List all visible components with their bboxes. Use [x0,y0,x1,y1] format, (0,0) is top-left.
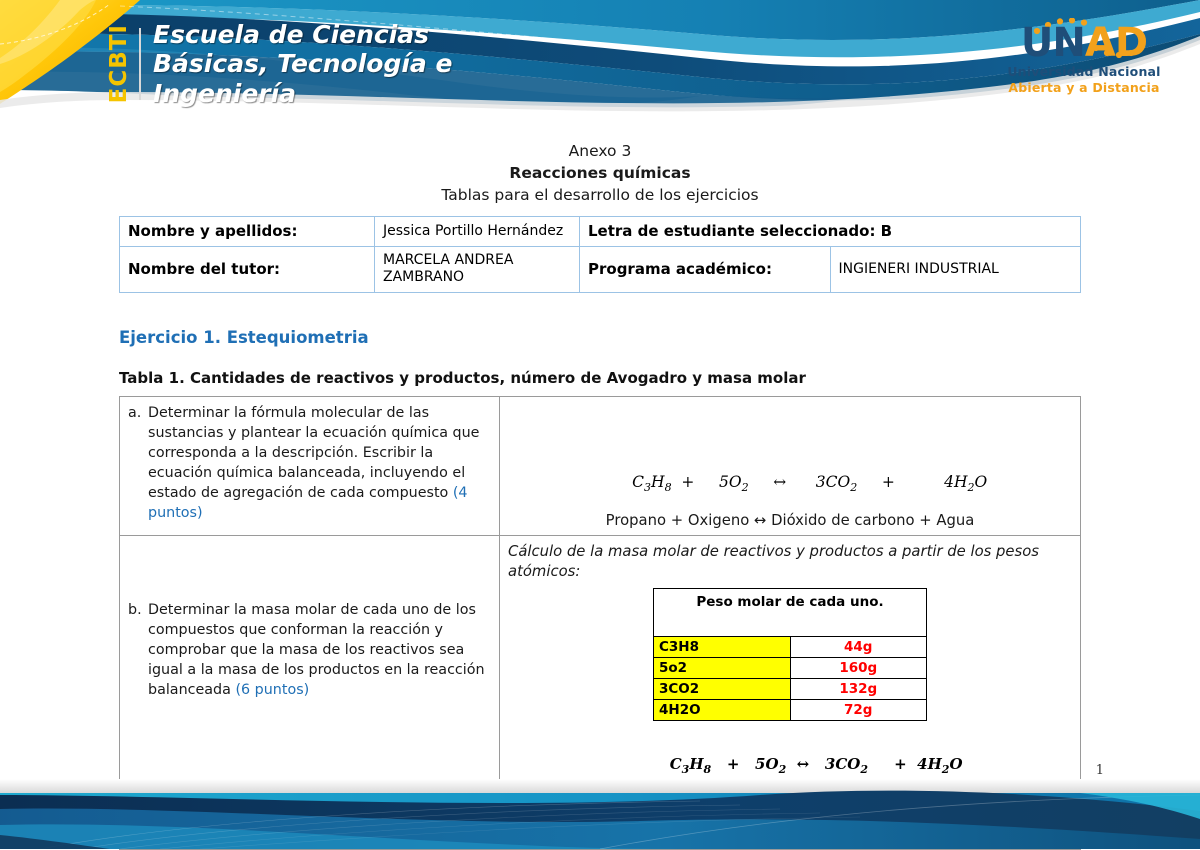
page-title: Reacciones químicas [0,162,1200,184]
molar-compound-3: 3CO2 [654,679,791,700]
label-programa-academico: Programa académico: [580,246,831,292]
value-nombre-tutor[interactable]: MARCELA ANDREA ZAMBRANO [375,246,580,292]
anexo-label: Anexo 3 [0,140,1200,162]
answer-cell-a[interactable]: C3H8 + 5O2 ↔ 3CO2 + 4H2O Propano + Oxige… [500,397,1081,536]
list-item: b.Determinar la masa molar de cada uno d… [148,600,491,700]
ecbti-logo: ECBTI Escuela de Ciencias Básicas, Tecno… [108,24,452,104]
table-row: C3H8 44g [654,637,927,658]
molar-mass-1: 44g [790,637,927,658]
unad-tagline-2: Abierta y a Distancia [1004,80,1164,96]
table-row: Nombre y apellidos: Jessica Portillo Her… [120,217,1081,247]
ecbti-divider [139,28,141,100]
list-item: a.Determinar la fórmula molecular de las… [148,403,491,523]
page-number: 1 [1096,763,1104,778]
value-nombre-apellidos[interactable]: Jessica Portillo Hernández [375,217,580,247]
molar-compound-1: C3H8 [654,637,791,658]
label-nombre-tutor: Nombre del tutor: [120,246,375,292]
unad-logo: UNAD Universidad Nacional Abierta y a Di… [1004,18,1164,100]
label-nombre-apellidos: Nombre y apellidos: [120,217,375,247]
prompt-list-b: b.Determinar la masa molar de cada uno d… [128,600,491,700]
table-row: 5o2 160g [654,658,927,679]
school-line-2: Básicas, Tecnología e [153,49,452,79]
prompt-cell-a: a.Determinar la fórmula molecular de las… [120,397,500,536]
molar-mass-table: Peso molar de cada uno. C3H8 44g 5o2 160… [653,588,927,721]
student-info-table: Nombre y apellidos: Jessica Portillo Her… [119,216,1081,293]
school-line-3: Ingeniería [153,79,452,109]
molar-compound-4: 4H2O [654,700,791,721]
molar-table-header: Peso molar de cada uno. [654,589,927,637]
footer-graphic [0,779,1200,849]
table-row: Nombre del tutor: MARCELA ANDREA ZAMBRAN… [120,246,1081,292]
unad-wordmark: UNAD [1004,18,1164,64]
list-marker-a: a. [128,403,141,423]
unad-ad-text: AD [1085,20,1147,66]
prompt-text-b: Determinar la masa molar de cada uno de … [148,602,485,698]
page-subtitle: Tablas para el desarrollo de los ejercic… [0,184,1200,206]
list-marker-b: b. [128,600,142,620]
header-banner: ECBTI Escuela de Ciencias Básicas, Tecno… [0,0,1200,128]
table-row: Peso molar de cada uno. [654,589,927,637]
table-row-a: a.Determinar la fórmula molecular de las… [120,397,1081,536]
equation-a-names: Propano + Oxigeno ↔ Dióxido de carbono +… [508,512,1072,529]
molar-compound-2: 5o2 [654,658,791,679]
value-programa-academico[interactable]: INGIENERI INDUSTRIAL [830,246,1081,292]
prompt-list-a: a.Determinar la fórmula molecular de las… [128,403,491,523]
molar-mass-4: 72g [790,700,927,721]
prompt-points-b: (6 puntos) [235,682,309,698]
tabla-heading: Tabla 1. Cantidades de reactivos y produ… [119,369,806,387]
footer-banner: Prohibida su reproducción y copia sin au… [0,779,1200,849]
table-row: 3CO2 132g [654,679,927,700]
ecbti-school-name: Escuela de Ciencias Básicas, Tecnología … [153,20,452,109]
ecbti-acronym: ECBTI [108,24,131,103]
equation-a-formulas: C3H8 + 5O2 ↔ 3CO2 + 4H2O [508,455,1072,512]
molar-mass-2: 160g [790,658,927,679]
molar-mass-3: 132g [790,679,927,700]
prompt-text-a: Determinar la fórmula molecular de las s… [148,405,479,501]
document-title-block: Anexo 3 Reacciones químicas Tablas para … [0,140,1200,206]
table-row: 4H2O 72g [654,700,927,721]
ejercicio-heading: Ejercicio 1. Estequiometria [119,328,369,347]
school-line-1: Escuela de Ciencias [153,20,452,50]
unad-un-text: UN [1021,20,1085,66]
label-letra-estudiante: Letra de estudiante seleccionado: B [580,217,1081,247]
unad-tagline-1: Universidad Nacional [1004,64,1164,80]
calc-note: Cálculo de la masa molar de reactivos y … [508,542,1072,582]
